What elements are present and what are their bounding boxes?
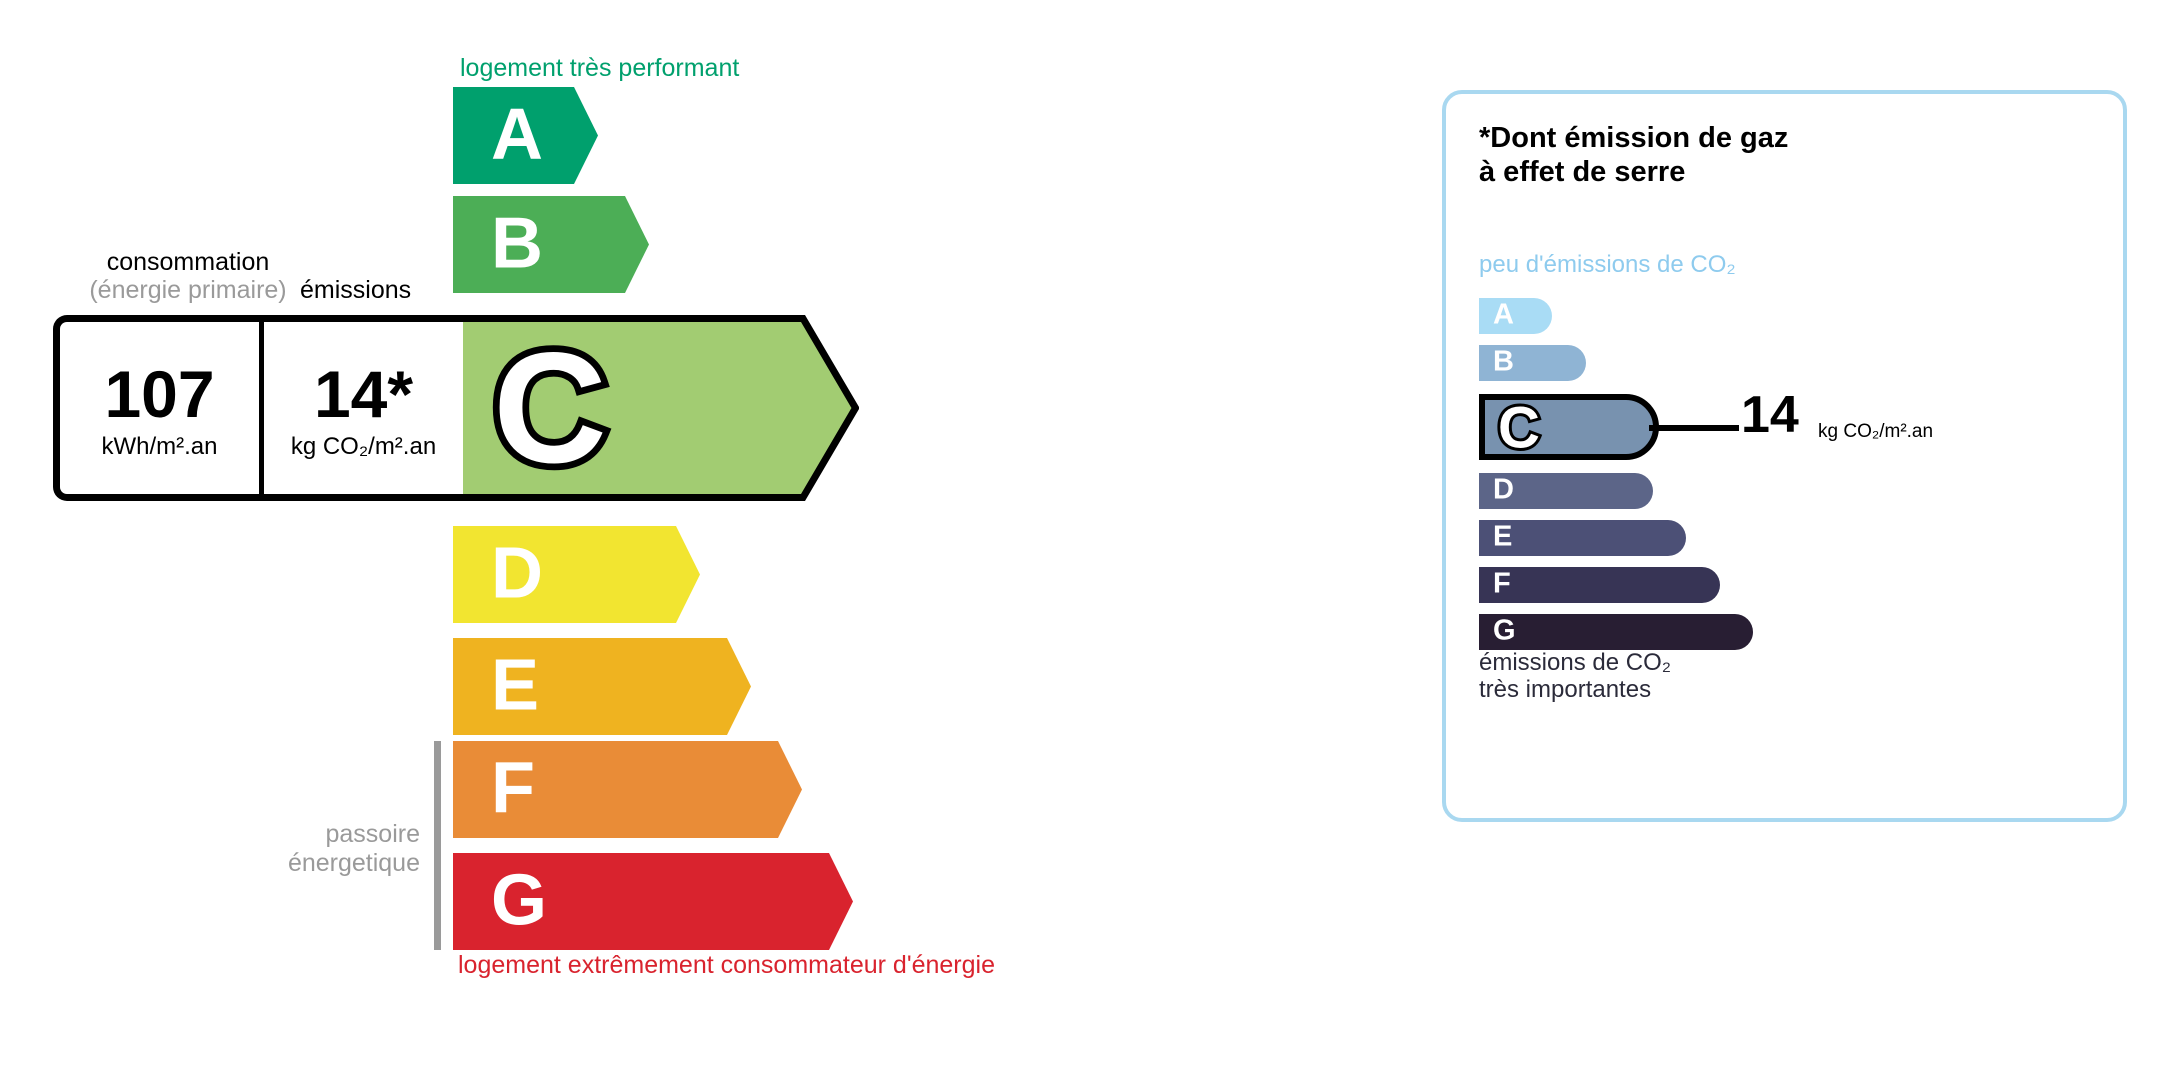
ghg-bottom-legend: émissions de CO₂ très importantes: [1479, 649, 1671, 704]
ghg-band-g: G: [1479, 614, 1753, 650]
svg-text:C: C: [493, 333, 607, 483]
ghg-bottom-legend-line-2: très importantes: [1479, 676, 1671, 703]
ghg-band-b-letter: B: [1493, 348, 1514, 377]
energy-band-c-letter: C: [475, 333, 625, 483]
ghg-bottom-legend-line-1: émissions de CO₂: [1479, 649, 1671, 676]
energy-unit: kWh/m².an: [101, 433, 217, 461]
ghg-band-d-letter: D: [1493, 476, 1514, 505]
ghg-band-e: E: [1479, 520, 1686, 556]
ghg-panel-title: *Dont émission de gaz à effet de serre: [1479, 122, 1788, 189]
energy-band-e-letter: E: [491, 649, 539, 721]
ghg-value-leader-line: [1649, 425, 1739, 431]
energy-band-a-letter: A: [491, 98, 543, 170]
ghg-panel-title-line-2: à effet de serre: [1479, 156, 1788, 190]
value-box: 107 kWh/m².an 14* kg CO₂/m².an: [53, 315, 463, 501]
ghg-band-f: F: [1479, 567, 1720, 603]
energy-band-c: C: [453, 315, 859, 501]
ghg-value: 14*: [314, 363, 413, 426]
ghg-band-c: C: [1479, 394, 1659, 460]
passoire-line-2: énergetique: [230, 849, 420, 878]
energy-band-b-shape: [453, 196, 649, 293]
consumption-label: consommation (énergie primaire): [68, 248, 308, 304]
ghg-band-a-letter: A: [1493, 301, 1514, 330]
passoire-line-1: passoire: [230, 820, 420, 849]
energy-band-b-letter: B: [491, 207, 543, 279]
ghg-panel-title-line-1: *Dont émission de gaz: [1479, 122, 1788, 156]
ghg-panel-value: 14: [1741, 389, 1799, 441]
ladder-bottom-legend: logement extrêmement consommateur d'éner…: [458, 951, 995, 980]
dpe-infographic: logement très performant A B C: [0, 0, 2169, 1079]
energy-performance-ladder: logement très performant A B C: [0, 0, 1400, 1079]
ghg-band-a: A: [1479, 298, 1552, 334]
ghg-value-cell: 14* kg CO₂/m².an: [264, 322, 463, 494]
energy-band-e: E: [453, 638, 751, 735]
energy-band-f: F: [453, 741, 802, 838]
ghg-top-legend: peu d'émissions de CO₂: [1479, 251, 1736, 279]
passoire-energetique-label: passoire énergetique: [230, 820, 420, 877]
consumption-label-sub: (énergie primaire): [68, 276, 308, 304]
ghg-band-f-letter: F: [1493, 570, 1511, 599]
svg-text:C: C: [1498, 396, 1540, 461]
ghg-panel-unit: kg CO₂/m².an: [1818, 421, 1933, 443]
energy-band-d: D: [453, 526, 700, 623]
ladder-top-legend: logement très performant: [460, 54, 739, 83]
energy-band-g: G: [453, 853, 853, 950]
energy-band-f-letter: F: [491, 752, 535, 824]
ghg-band-g-letter: G: [1493, 617, 1516, 646]
ghg-band-c-shape: C: [1479, 394, 1659, 460]
ghg-unit: kg CO₂/m².an: [291, 433, 436, 461]
energy-value: 107: [104, 363, 214, 426]
ghg-band-d: D: [1479, 473, 1653, 509]
energy-band-d-letter: D: [491, 537, 543, 609]
ghg-band-b: B: [1479, 345, 1586, 381]
energy-value-cell: 107 kWh/m².an: [60, 322, 264, 494]
consumption-label-main: consommation: [107, 248, 270, 276]
ghg-emissions-panel: *Dont émission de gaz à effet de serre p…: [1442, 90, 2127, 822]
energy-band-a: A: [453, 87, 598, 184]
passoire-energetique-bracket: [434, 741, 441, 950]
energy-band-b: B: [453, 196, 649, 293]
energy-band-g-letter: G: [491, 864, 547, 936]
emissions-label: émissions: [300, 276, 411, 305]
ghg-band-e-letter: E: [1493, 523, 1512, 552]
